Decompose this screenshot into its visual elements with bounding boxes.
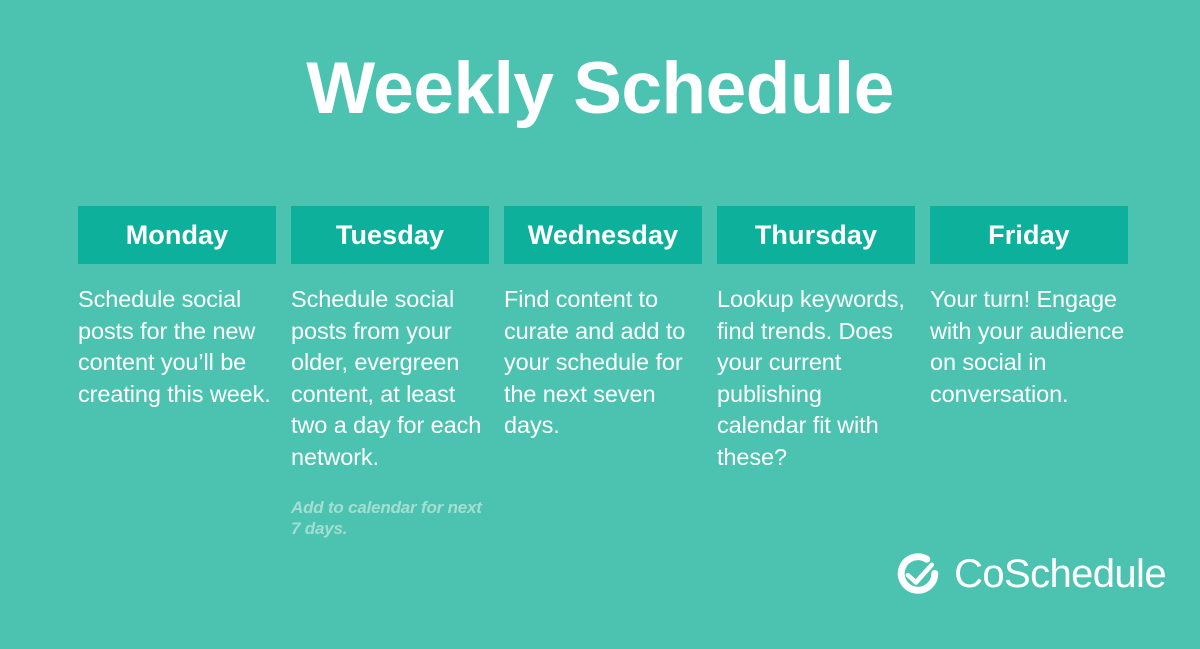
coschedule-logo: CoSchedule xyxy=(895,551,1166,597)
day-label: Wednesday xyxy=(528,222,678,249)
page-title: Weekly Schedule xyxy=(0,52,1200,125)
day-body-text: Schedule social posts from your older, e… xyxy=(291,284,489,474)
weekly-schedule-slide: Weekly Schedule Monday Schedule social p… xyxy=(0,0,1200,649)
day-label: Tuesday xyxy=(336,222,444,249)
day-label: Monday xyxy=(126,222,229,249)
day-column-friday: Friday Your turn! Engage with your audie… xyxy=(930,206,1128,410)
day-label: Thursday xyxy=(755,222,877,249)
day-header-tuesday: Tuesday xyxy=(291,206,489,264)
day-note-text: Add to calendar for next 7 days. xyxy=(291,497,489,539)
day-body-text: Your turn! Engage with your audience on … xyxy=(930,284,1128,410)
day-body-text: Find content to curate and add to your s… xyxy=(504,284,702,442)
day-column-tuesday: Tuesday Schedule social posts from your … xyxy=(291,206,489,539)
day-header-wednesday: Wednesday xyxy=(504,206,702,264)
day-body-text: Lookup keywords, find trends. Does your … xyxy=(717,284,915,474)
logo-wordmark: CoSchedule xyxy=(954,554,1166,594)
day-column-monday: Monday Schedule social posts for the new… xyxy=(78,206,276,410)
day-body-text: Schedule social posts for the new conten… xyxy=(78,284,276,410)
day-header-thursday: Thursday xyxy=(717,206,915,264)
schedule-columns: Monday Schedule social posts for the new… xyxy=(78,206,1134,539)
circle-check-icon xyxy=(895,551,941,597)
day-column-wednesday: Wednesday Find content to curate and add… xyxy=(504,206,702,442)
day-label: Friday xyxy=(988,222,1070,249)
day-header-friday: Friday xyxy=(930,206,1128,264)
day-header-monday: Monday xyxy=(78,206,276,264)
day-column-thursday: Thursday Lookup keywords, find trends. D… xyxy=(717,206,915,474)
